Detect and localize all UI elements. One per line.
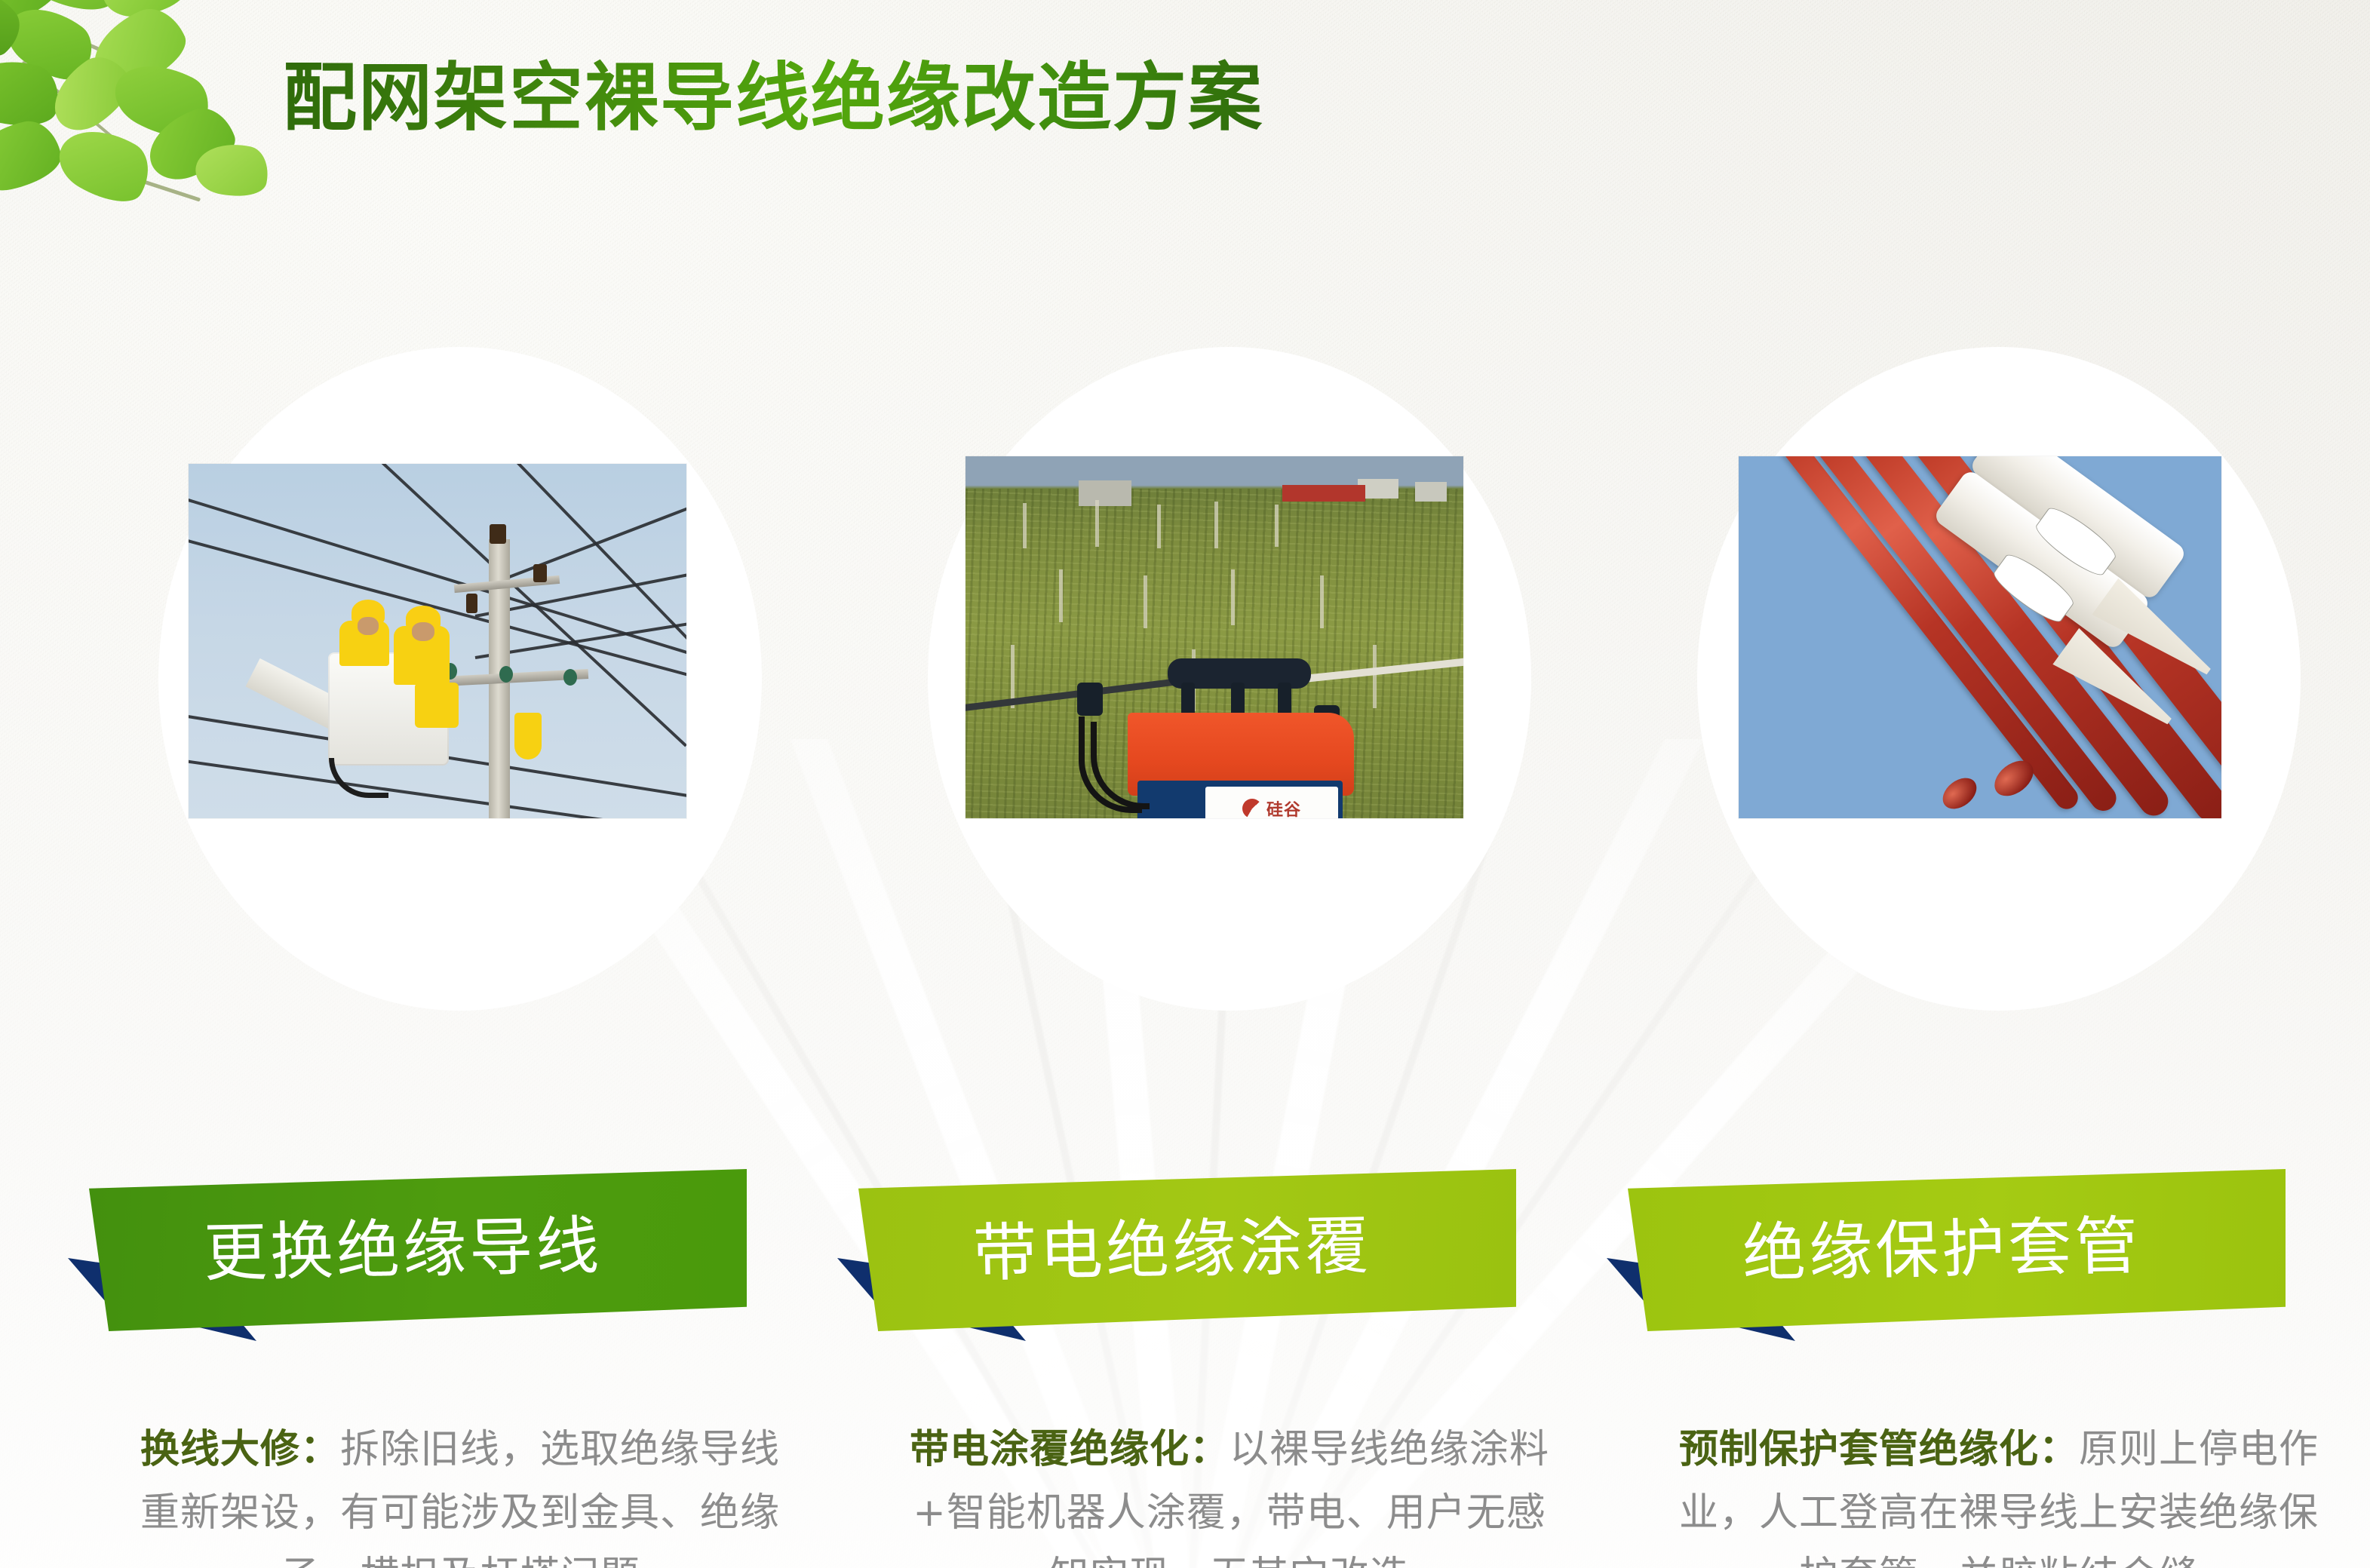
photo-red-sleeves-and-sealant (1739, 456, 2221, 818)
photo-linemen-bucket-truck (189, 464, 686, 818)
banner-label: 更换绝缘导线 (203, 1192, 732, 1293)
banner-label: 带电绝缘涂覆 (972, 1192, 1502, 1293)
slide-canvas: 配网架空裸导线绝缘改造方案 (0, 0, 2370, 1568)
card-description-lead: 带电涂覆绝缘化： (910, 1427, 1230, 1472)
photo-coating-robot-on-line: 硅谷 (965, 456, 1463, 818)
banner-insulation-protective-sleeve[interactable]: 绝缘保护套管 (1607, 1169, 2286, 1331)
banner-replace-insulated-conductor[interactable]: 更换绝缘导线 (68, 1169, 747, 1331)
card-description: 换线大修：拆除旧线，选取绝缘导线重新架设，有可能涉及到金具、绝缘子、横担及杆塔问… (128, 1418, 792, 1568)
card-description-lead: 预制保护套管绝缘化： (1679, 1427, 2079, 1472)
robot-logo-text: 硅谷 (1266, 796, 1301, 818)
card-description-lead: 换线大修： (140, 1427, 340, 1472)
banner-live-line-insulation-coating[interactable]: 带电绝缘涂覆 (837, 1169, 1516, 1331)
card-description: 带电涂覆绝缘化：以裸导线绝缘涂料+智能机器人涂覆，带电、用户无感知实现，无其它改… (898, 1418, 1561, 1568)
card-insulation-protective-sleeve[interactable]: 绝缘保护套管 预制保护套管绝缘化：原则上停电作业，人工登高在裸导线上安装绝缘保护… (1637, 347, 2361, 1524)
banner-label: 绝缘保护套管 (1742, 1192, 2271, 1293)
card-live-line-insulation-coating[interactable]: 硅谷 带电绝缘涂覆 带电涂覆绝缘化：以裸导线绝缘涂料+智能机器人涂覆，带电、用户… (867, 347, 1592, 1524)
card-replace-insulated-conductor[interactable]: 更换绝缘导线 换线大修：拆除旧线，选取绝缘导线重新架设，有可能涉及到金具、绝缘子… (98, 347, 822, 1524)
card-description: 预制保护套管绝缘化：原则上停电作业，人工登高在裸导线上安装绝缘保护套管，并胶粘结… (1667, 1418, 2331, 1568)
robot-logo-icon (1242, 799, 1262, 818)
cards-container: 更换绝缘导线 换线大修：拆除旧线，选取绝缘导线重新架设，有可能涉及到金具、绝缘子… (0, 0, 2370, 1568)
